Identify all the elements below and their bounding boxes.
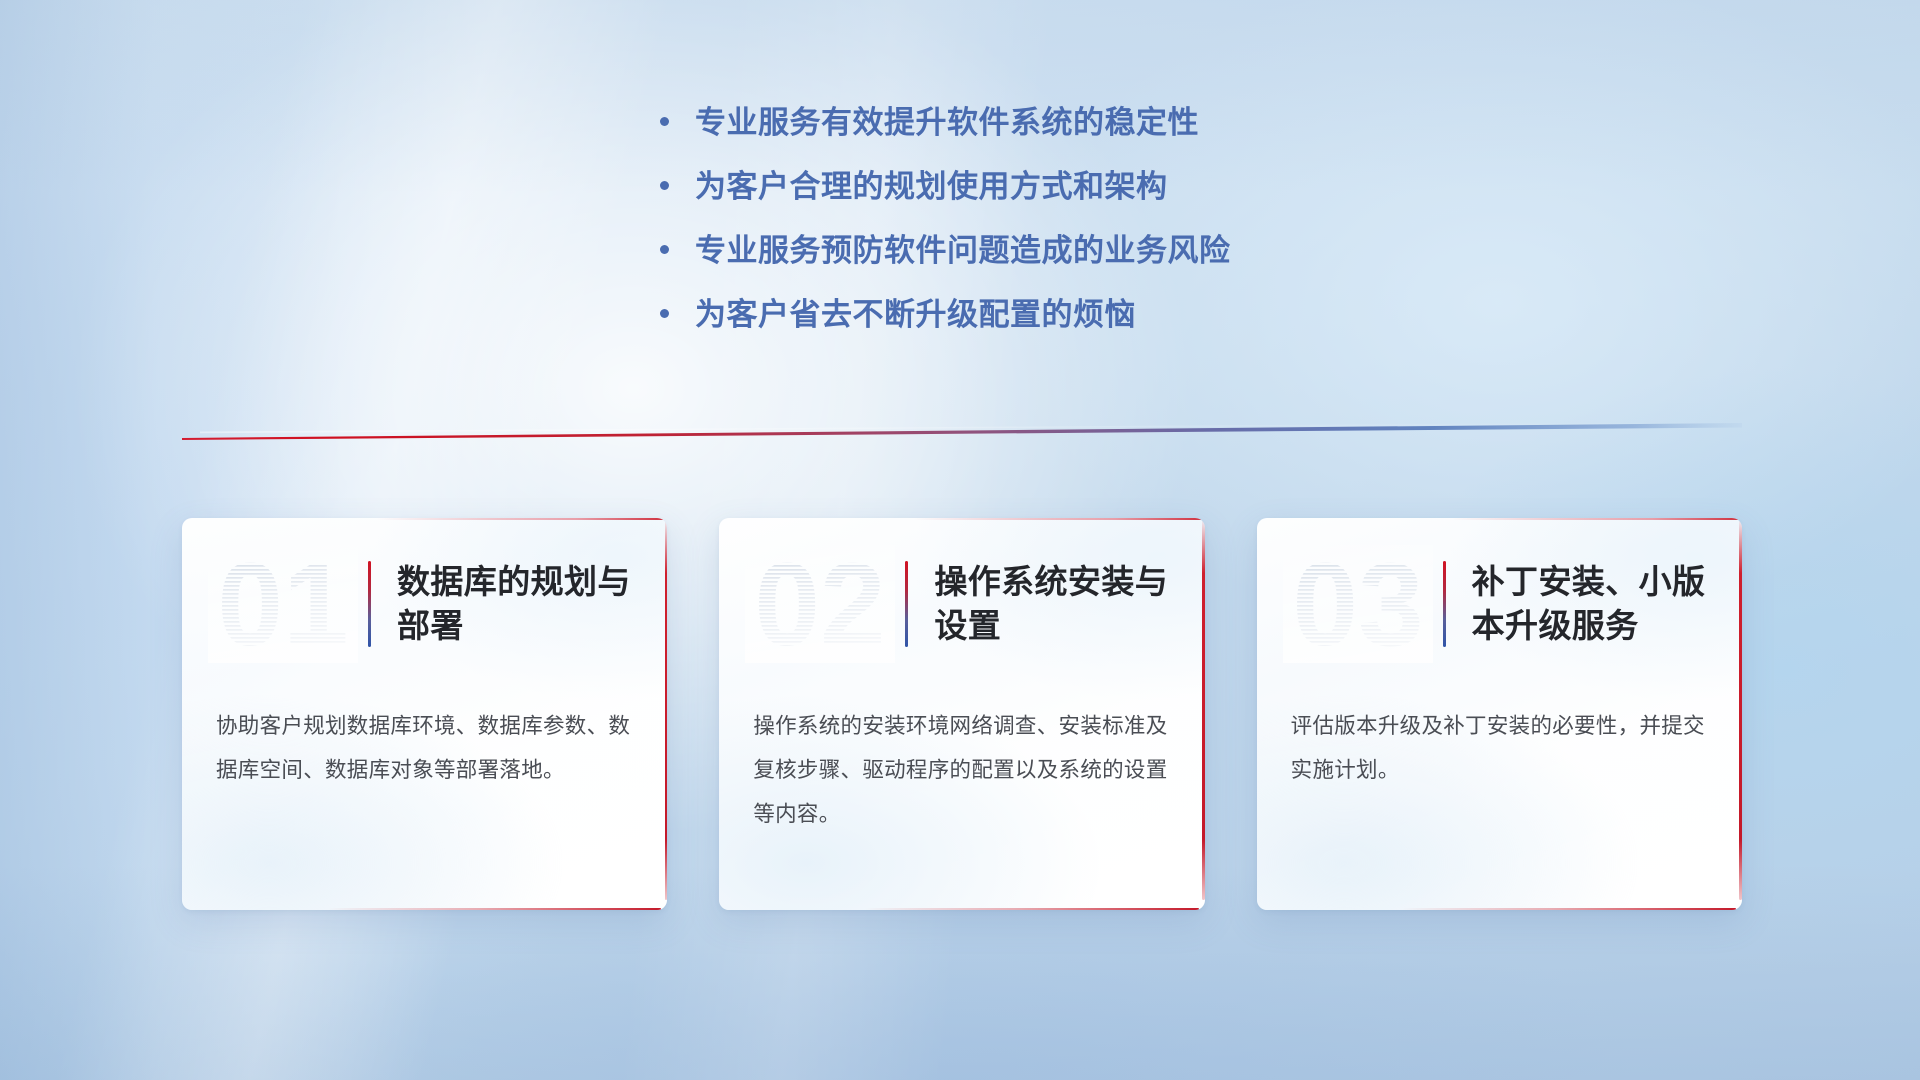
ghost-number-02-icon: 02: [745, 545, 895, 663]
card-title: 操作系统安装与设置: [934, 560, 1174, 648]
benefits-list: 专业服务有效提升软件系统的稳定性 为客户合理的规划使用方式和架构 专业服务预防软…: [660, 104, 1420, 360]
bullet-dot-icon: [660, 117, 669, 126]
card-accent-rule: [368, 561, 371, 647]
card-header: 01 数据库的规划与部署: [182, 518, 667, 690]
service-card[interactable]: 02 操作系统安装与设置 操作系统的安装环境网络调查、安装标准及复核步骤、驱动程…: [719, 518, 1204, 910]
service-card[interactable]: 01 数据库的规划与部署 协助客户规划数据库环境、数据库参数、数据库空间、数据库…: [182, 518, 667, 910]
bullet-text: 专业服务有效提升软件系统的稳定性: [695, 104, 1199, 141]
bullet-dot-icon: [660, 181, 669, 190]
ghost-number-01-icon: 01: [208, 545, 358, 663]
slide-root: 专业服务有效提升软件系统的稳定性 为客户合理的规划使用方式和架构 专业服务预防软…: [0, 0, 1920, 1080]
card-header: 02 操作系统安装与设置: [719, 518, 1204, 690]
tapered-wedge-rule-icon: [182, 418, 1742, 440]
card-accent-bottom: [1402, 908, 1736, 911]
card-title: 数据库的规划与部署: [397, 560, 637, 648]
list-item: 为客户省去不断升级配置的烦恼: [660, 296, 1420, 360]
bullet-dot-icon: [660, 245, 669, 254]
ghost-number-03-icon: 03: [1283, 545, 1433, 663]
card-body-text: 协助客户规划数据库环境、数据库参数、数据库空间、数据库对象等部署落地。: [182, 690, 667, 792]
section-divider: [182, 418, 1742, 440]
card-title: 补丁安装、小版本升级服务: [1472, 560, 1712, 648]
card-body-text: 评估版本升级及补丁安装的必要性，并提交实施计划。: [1257, 690, 1742, 792]
bullet-text: 为客户省去不断升级配置的烦恼: [695, 296, 1136, 333]
list-item: 为客户合理的规划使用方式和架构: [660, 168, 1420, 232]
list-item: 专业服务预防软件问题造成的业务风险: [660, 232, 1420, 296]
card-accent-bottom: [865, 908, 1199, 911]
card-accent-rule: [1443, 561, 1446, 647]
card-body-text: 操作系统的安装环境网络调查、安装标准及复核步骤、驱动程序的配置以及系统的设置等内…: [719, 690, 1204, 836]
card-accent-rule: [905, 561, 908, 647]
service-card[interactable]: 03 补丁安装、小版本升级服务 评估版本升级及补丁安装的必要性，并提交实施计划。: [1257, 518, 1742, 910]
bullet-text: 为客户合理的规划使用方式和架构: [695, 168, 1168, 205]
bullet-dot-icon: [660, 309, 669, 318]
service-card-group: 01 数据库的规划与部署 协助客户规划数据库环境、数据库参数、数据库空间、数据库…: [182, 518, 1742, 918]
list-item: 专业服务有效提升软件系统的稳定性: [660, 104, 1420, 168]
card-accent-bottom: [328, 908, 662, 911]
bullet-text: 专业服务预防软件问题造成的业务风险: [695, 232, 1231, 269]
card-header: 03 补丁安装、小版本升级服务: [1257, 518, 1742, 690]
